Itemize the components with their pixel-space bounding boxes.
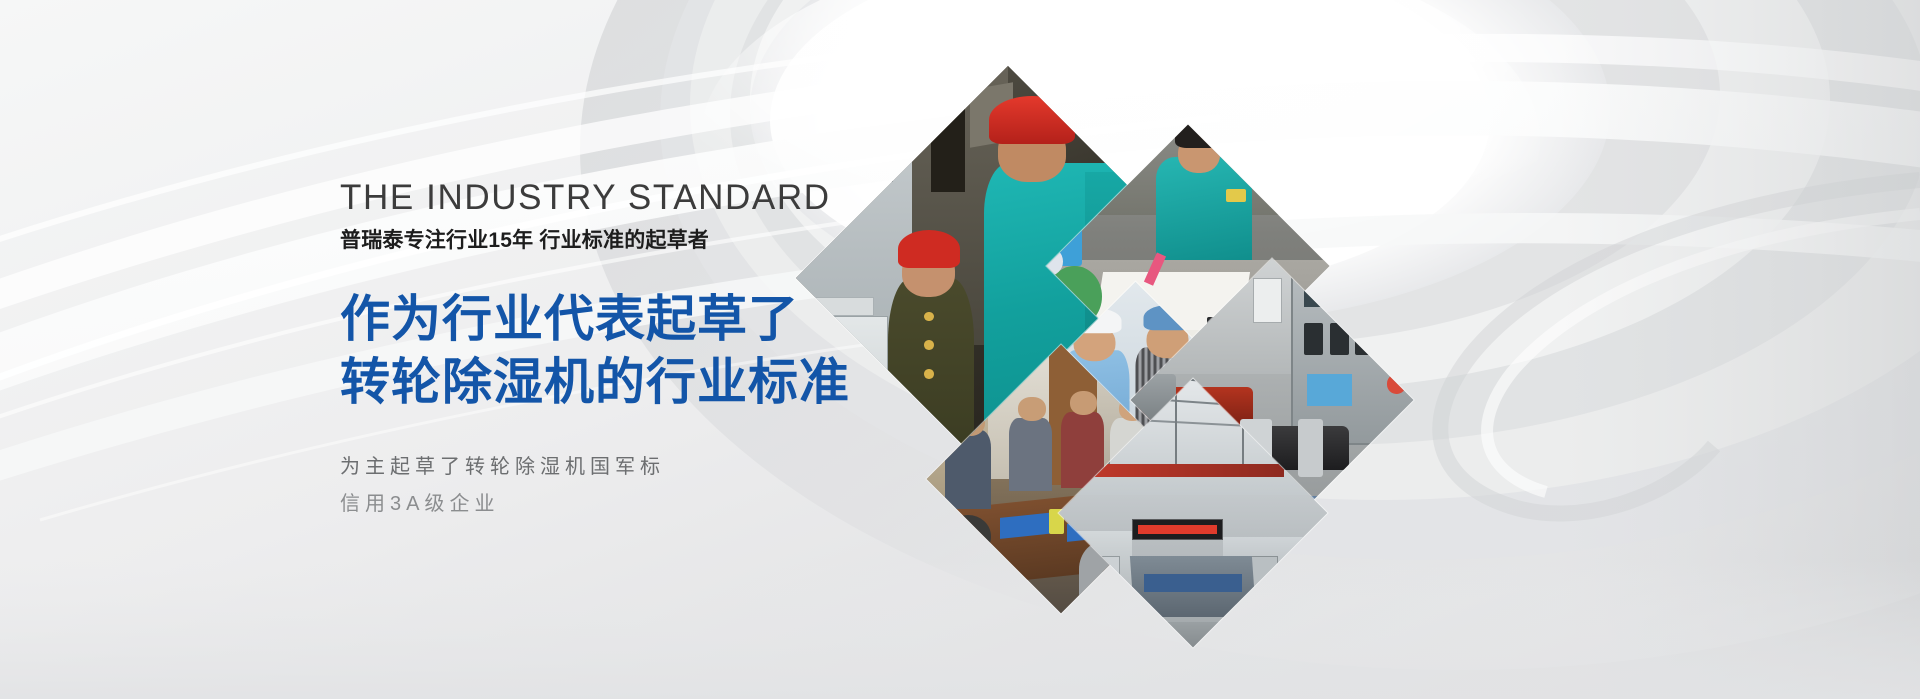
diamond-photo-collage [850, 88, 1550, 618]
hero-banner: THE INDUSTRY STANDARD 普瑞泰专注行业15年 行业标准的起草… [0, 0, 1920, 699]
